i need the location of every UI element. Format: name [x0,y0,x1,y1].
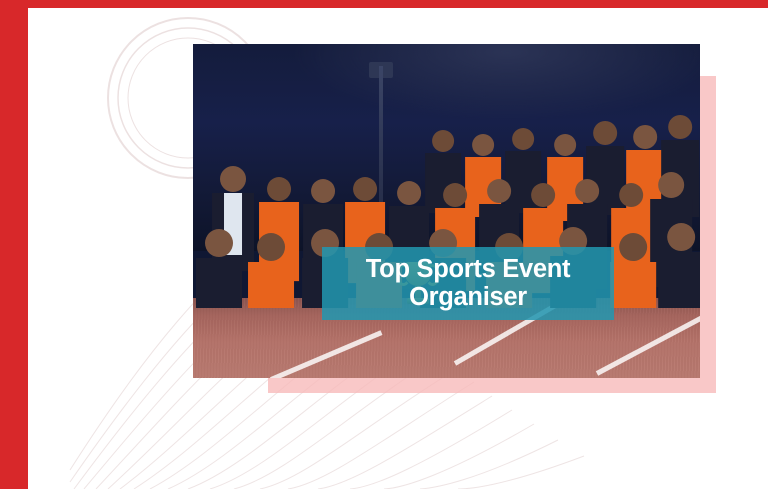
caption-title: Top Sports Event Organiser [358,256,578,311]
red-top-accent-bar [0,0,768,8]
red-left-accent-bar [0,0,28,489]
slide-canvas: Top Sports Event Organiser [0,0,768,489]
caption-banner: Top Sports Event Organiser [322,247,614,320]
hero-photo: Top Sports Event Organiser [193,44,700,378]
